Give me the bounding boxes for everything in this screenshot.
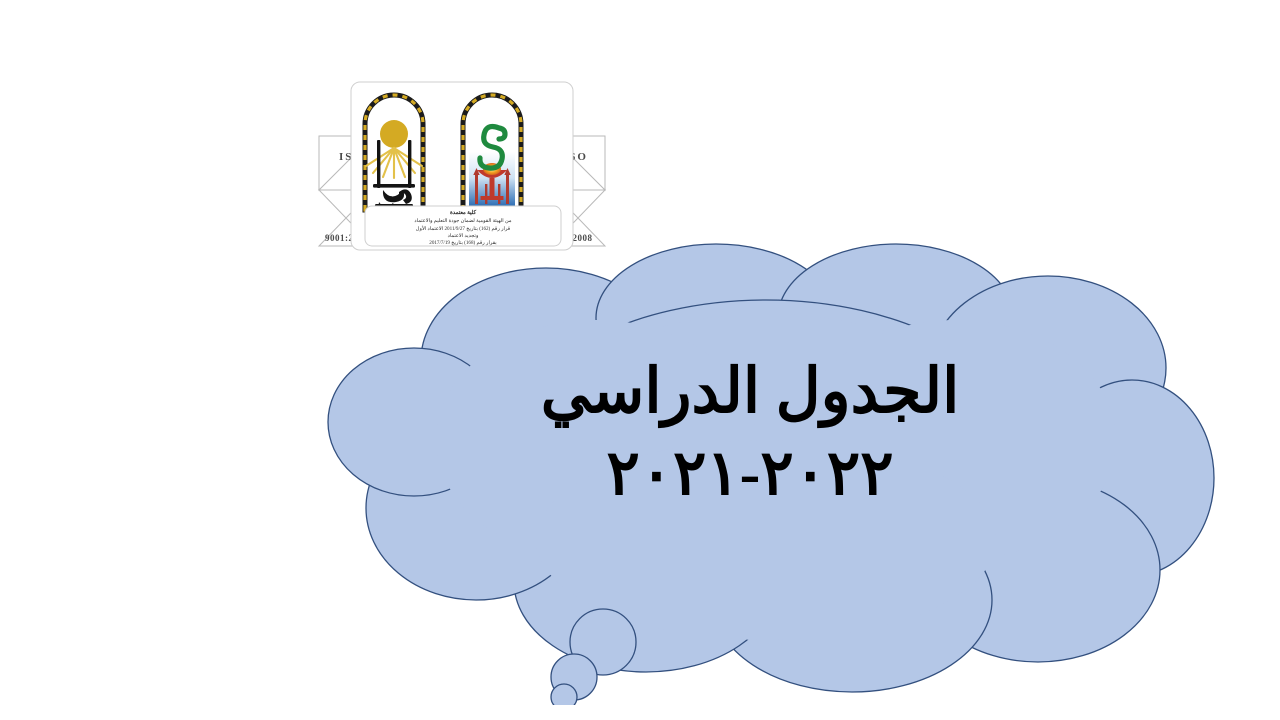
caption-line-4: وتجديد الاعتماد [448,233,479,239]
faculty-of-pharmacy-emblem [463,95,521,210]
assiut-university-emblem [365,95,423,213]
institution-logo: ISO 9001:2015 ISO 9001:2008 [313,78,611,260]
caption-line-1: كلية معتمدة [450,210,477,216]
cloud-body [328,244,1214,692]
logo-svg: ISO 9001:2015 ISO 9001:2008 [313,78,611,260]
cloud-svg [296,240,1216,705]
sun-icon [380,120,408,148]
caption-line-2: من الهيئة القومية لضمان جودة التعليم وال… [414,218,511,224]
tail-bubble-small [551,684,577,705]
caption-line-3: قرار رقم (162) بتاريخ 2011/9/27 الاعتماد… [416,224,511,232]
thought-bubble-shape [296,240,1216,705]
presentation-slide: ISO 9001:2015 ISO 9001:2008 [0,0,1280,720]
